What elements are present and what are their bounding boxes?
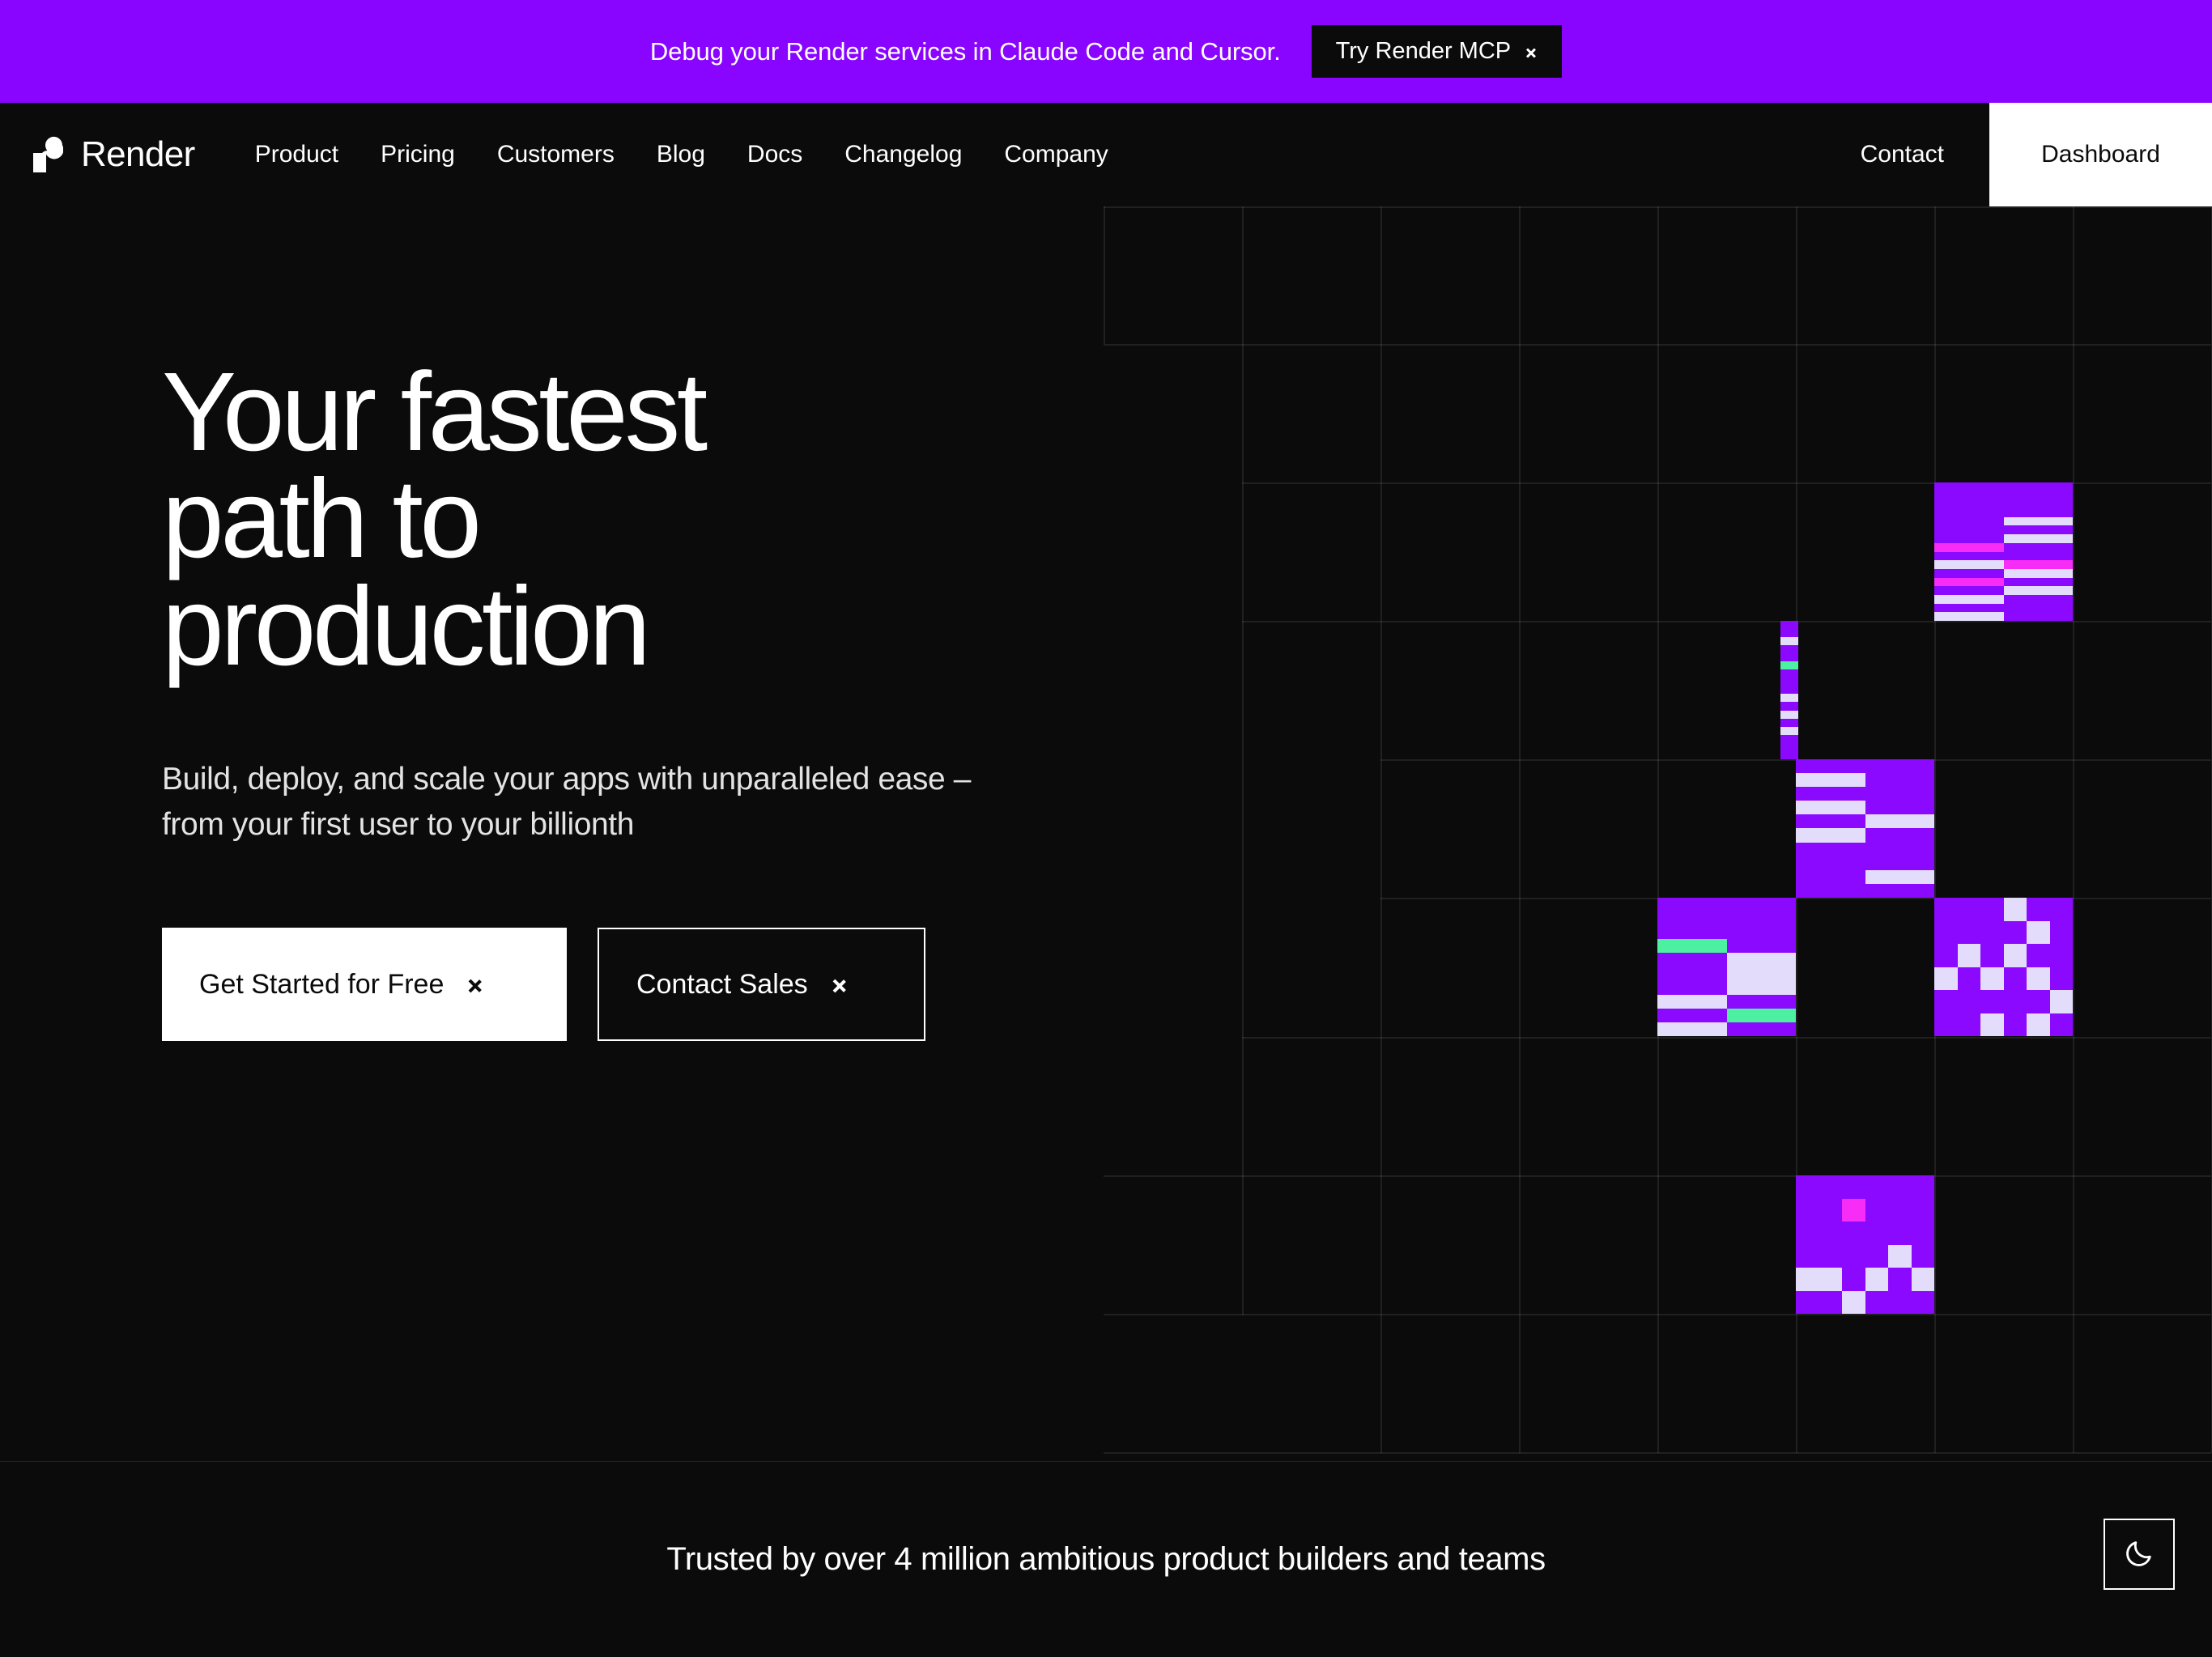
grid-line-vertical (1380, 206, 1382, 1453)
pixel-cell (1780, 621, 1798, 629)
pixel-cell (2004, 921, 2027, 945)
pixel-cell (1657, 967, 1727, 980)
pixel-row (1796, 1291, 1934, 1315)
pixel-cell (1796, 759, 1865, 773)
block-stripes-top-right (1934, 482, 2073, 621)
pixel-cell (1780, 702, 1798, 710)
pixel-cell (1934, 1013, 1958, 1037)
pixel-cell (1780, 751, 1798, 759)
pixel-row (1796, 856, 1934, 870)
block-stripes-green-left (1657, 898, 1796, 1036)
grid-line-horizontal (1104, 1314, 2211, 1315)
pixel-row (1796, 1175, 1934, 1199)
pixel-row (1796, 773, 1934, 787)
pixel-row (1796, 814, 1934, 828)
grid-line-horizontal (1104, 1175, 2211, 1177)
pixel-cell (2004, 491, 2074, 500)
nav-item-docs[interactable]: Docs (726, 103, 823, 206)
pixel-cell (1842, 1291, 1865, 1315)
pixel-row (1657, 925, 1796, 939)
page-title: Your fastest path to production (162, 359, 1093, 680)
pixel-row (1657, 939, 1796, 953)
pixel-cell (1934, 604, 2004, 613)
pixel-row (1796, 1268, 1934, 1291)
block-thin-stripe (1780, 621, 1798, 759)
pixel-row (1934, 552, 2073, 561)
pixel-cell (1865, 1222, 1889, 1245)
block-stripes-middle (1796, 759, 1934, 898)
site-header: Render Product Pricing Customers Blog Do… (0, 103, 2212, 206)
pixel-cell (1727, 898, 1797, 911)
pixel-cell (1796, 884, 1865, 898)
pixel-cell (2004, 560, 2074, 569)
pixel-cell (2004, 543, 2074, 552)
pixel-row (1796, 884, 1934, 898)
pixel-row (1796, 1199, 1934, 1222)
pixel-cell (1796, 1222, 1819, 1245)
pixel-cell (1727, 953, 1797, 967)
pixel-row (1657, 1022, 1796, 1036)
pixel-row (1780, 678, 1798, 686)
pixel-cell (1934, 534, 2004, 543)
pixel-row (1934, 482, 2073, 491)
pixel-row (1934, 944, 2073, 967)
pixel-cell (1934, 482, 2004, 491)
pixel-cell (1780, 669, 1798, 678)
hero-subtitle: Build, deploy, and scale your apps with … (162, 757, 1093, 847)
pixel-row (1934, 595, 2073, 604)
trusted-strip: Trusted by over 4 million ambitious prod… (0, 1461, 2212, 1657)
pixel-cell (1796, 843, 1865, 856)
pixel-row (1934, 578, 2073, 587)
pixel-row (1780, 661, 1798, 669)
pixel-cell (1934, 944, 1958, 967)
pixel-cell (1958, 944, 1981, 967)
pixel-cell (1934, 921, 1958, 945)
pixel-cell (1657, 925, 1727, 939)
pixel-cell (1980, 921, 2004, 945)
pixel-cell (1780, 678, 1798, 686)
pixel-cell (2004, 552, 2074, 561)
pixel-row (1796, 801, 1934, 814)
trusted-text: Trusted by over 4 million ambitious prod… (666, 1541, 1545, 1578)
pixel-cell (2050, 921, 2074, 945)
pixel-cell (1819, 1291, 1843, 1315)
pixel-cell (1819, 1268, 1843, 1291)
pixel-row (1657, 953, 1796, 967)
pixel-cell (1865, 870, 1935, 884)
contact-sales-button[interactable]: Contact Sales (598, 928, 925, 1041)
grid-line-vertical (1519, 206, 1521, 1453)
pixel-cell (1865, 1268, 1889, 1291)
pixel-cell (1934, 517, 2004, 526)
pixel-cell (1780, 743, 1798, 751)
pixel-cell (1796, 801, 1865, 814)
nav-item-blog[interactable]: Blog (636, 103, 726, 206)
pixel-cell (1958, 967, 1981, 991)
chevron-right-icon (834, 972, 846, 996)
grid-line-horizontal (1104, 206, 2211, 208)
brand-logo-link[interactable]: Render (0, 103, 228, 206)
pixel-cell (2004, 569, 2074, 578)
hero-section: Your fastest path to production Build, d… (0, 206, 2212, 1657)
announcement-text: Debug your Render services in Claude Cod… (650, 37, 1281, 66)
announcement-bar: Debug your Render services in Claude Cod… (0, 0, 2212, 103)
pixel-cell (1888, 1222, 1912, 1245)
pixel-cell (1727, 981, 1797, 995)
pixel-cell (1865, 828, 1935, 842)
pixel-cell (1980, 967, 2004, 991)
pixel-row (1934, 525, 2073, 534)
grid-line-vertical (2073, 206, 2074, 1453)
pixel-cell (2004, 898, 2027, 921)
grid-line-horizontal (1242, 621, 2211, 622)
pixel-cell (2050, 990, 2074, 1013)
pixel-cell (2004, 525, 2074, 534)
pixel-cell (1934, 499, 2004, 508)
pixel-row (1934, 534, 2073, 543)
block-checker-right (1934, 898, 2073, 1036)
pixel-cell (1934, 508, 2004, 517)
pixel-row (1780, 694, 1798, 702)
pixel-row (1796, 1222, 1934, 1245)
pixel-row (1657, 995, 1796, 1009)
pixel-cell (1912, 1291, 1935, 1315)
pixel-cell (2050, 967, 2074, 991)
pixel-cell (1780, 694, 1798, 702)
pixel-cell (1727, 967, 1797, 980)
pixel-cell (1912, 1245, 1935, 1268)
pixel-cell (1958, 990, 1981, 1013)
pixel-cell (1727, 925, 1797, 939)
pixel-row (1796, 787, 1934, 801)
pixel-cell (1796, 814, 1865, 828)
chevron-right-icon (1527, 43, 1538, 61)
pixel-cell (1796, 828, 1865, 842)
pixel-cell (2027, 967, 2050, 991)
pixel-cell (2004, 612, 2074, 621)
pixel-cell (1780, 637, 1798, 645)
pixel-cell (1865, 843, 1935, 856)
pixel-cell (2004, 944, 2027, 967)
pixel-cell (1958, 898, 1981, 921)
pixel-cell (1888, 1291, 1912, 1315)
pixel-cell (2004, 1013, 2027, 1037)
pixel-row (1780, 686, 1798, 694)
pixel-cell (2004, 967, 2027, 991)
pixel-cell (2050, 944, 2074, 967)
pixel-cell (1888, 1175, 1912, 1199)
pixel-cell (1796, 1245, 1819, 1268)
grid-line-horizontal (1104, 1452, 2211, 1454)
pixel-cell (1796, 773, 1865, 787)
chevron-right-icon (470, 972, 482, 996)
pixel-cell (1727, 939, 1797, 953)
pixel-cell (1727, 1022, 1797, 1036)
pixel-cell (1819, 1222, 1843, 1245)
pixel-cell (1934, 560, 2004, 569)
hero-copy: Your fastest path to production Build, d… (162, 206, 1093, 1041)
pixel-cell (1780, 711, 1798, 719)
nav-item-company[interactable]: Company (983, 103, 1129, 206)
pixel-row (1934, 499, 2073, 508)
hero-actions: Get Started for Free Contact Sales (162, 928, 1093, 1041)
pixel-cell (1865, 814, 1935, 828)
pixel-row (1934, 569, 2073, 578)
pixel-cell (1657, 939, 1727, 953)
pixel-cell (1980, 990, 2004, 1013)
pixel-cell (1980, 1013, 2004, 1037)
grid-line-vertical (1934, 206, 1936, 1453)
pixel-row (1796, 759, 1934, 773)
pixel-cell (1934, 578, 2004, 587)
pixel-cell (1657, 1009, 1727, 1022)
pixel-cell (1865, 1175, 1889, 1199)
pixel-cell (1934, 525, 2004, 534)
pixel-cell (1727, 911, 1797, 925)
pixel-cell (1934, 612, 2004, 621)
pixel-cell (1657, 953, 1727, 967)
pixel-row (1780, 727, 1798, 735)
pixel-row (1657, 1009, 1796, 1022)
moon-icon (2123, 1537, 2155, 1572)
pixel-cell (2027, 921, 2050, 945)
theme-toggle-button[interactable] (2104, 1519, 2175, 1590)
pixel-cell (1958, 921, 1981, 945)
pixel-cell (1819, 1199, 1843, 1222)
pixel-cell (1865, 773, 1935, 787)
pixel-cell (2004, 499, 2074, 508)
pixel-cell (2027, 898, 2050, 921)
pixel-row (1657, 967, 1796, 980)
pixel-cell (2004, 578, 2074, 587)
pixel-cell (1842, 1175, 1865, 1199)
pixel-cell (2004, 990, 2027, 1013)
pixel-row (1934, 898, 2073, 921)
pixel-cell (2004, 482, 2074, 491)
pixel-cell (1842, 1199, 1865, 1222)
pixel-cell (2004, 586, 2074, 595)
pixel-cell (1934, 586, 2004, 595)
pixel-cell (1865, 787, 1935, 801)
pixel-cell (1796, 1291, 1819, 1315)
pixel-cell (1657, 1022, 1727, 1036)
pixel-cell (1657, 981, 1727, 995)
pixel-row (1934, 604, 2073, 613)
pixel-cell (1888, 1245, 1912, 1268)
pixel-row (1934, 967, 2073, 991)
pixel-cell (1780, 645, 1798, 653)
secondary-cta-label: Contact Sales (636, 969, 808, 1001)
pixel-cell (1912, 1268, 1935, 1291)
pixel-cell (1865, 856, 1935, 870)
pixel-cell (1958, 1013, 1981, 1037)
pixel-row (1796, 870, 1934, 884)
nav-item-product[interactable]: Product (234, 103, 359, 206)
pixel-row (1934, 612, 2073, 621)
pixel-row (1780, 735, 1798, 743)
nav-item-contact[interactable]: Contact (1815, 103, 1989, 206)
nav-item-customers[interactable]: Customers (476, 103, 636, 206)
pixel-cell (1912, 1222, 1935, 1245)
pixel-cell (1657, 995, 1727, 1009)
pixel-cell (2027, 990, 2050, 1013)
pixel-cell (1727, 995, 1797, 1009)
pixel-cell (1657, 911, 1727, 925)
pixel-row (1780, 669, 1798, 678)
grid-line-horizontal (1242, 1037, 2211, 1039)
pixel-cell (1865, 759, 1935, 773)
pixel-cell (2027, 944, 2050, 967)
pixel-row (1796, 843, 1934, 856)
pixel-cell (1796, 1199, 1819, 1222)
pixel-cell (1819, 1175, 1843, 1199)
pixel-cell (1934, 543, 2004, 552)
pixel-row (1780, 751, 1798, 759)
pixel-row (1780, 653, 1798, 661)
nav-item-pricing[interactable]: Pricing (359, 103, 476, 206)
pixel-cell (1727, 1009, 1797, 1022)
pixel-row (1796, 1245, 1934, 1268)
get-started-for-free-button[interactable]: Get Started for Free (162, 928, 567, 1041)
pixel-cell (1865, 884, 1935, 898)
pixel-row (1780, 637, 1798, 645)
pixel-row (1657, 911, 1796, 925)
dashboard-button[interactable]: Dashboard (1989, 103, 2212, 206)
pixel-cell (1796, 1175, 1819, 1199)
pixel-row (1934, 508, 2073, 517)
pixel-row (1934, 990, 2073, 1013)
primary-cta-label: Get Started for Free (199, 969, 444, 1001)
pixel-row (1780, 621, 1798, 629)
pixel-cell (1888, 1268, 1912, 1291)
pixel-row (1934, 543, 2073, 552)
pixel-cell (2027, 1013, 2050, 1037)
pixel-row (1780, 711, 1798, 719)
pixel-cell (1780, 661, 1798, 669)
pixel-cell (1780, 653, 1798, 661)
pixel-cell (2004, 595, 2074, 604)
pixel-row (1934, 491, 2073, 500)
pixel-cell (1912, 1175, 1935, 1199)
pixel-cell (1934, 552, 2004, 561)
pixel-cell (1980, 898, 2004, 921)
pixel-row (1780, 743, 1798, 751)
pixel-cell (1865, 801, 1935, 814)
pixel-row (1934, 586, 2073, 595)
pixel-cell (1780, 629, 1798, 637)
block-pink-dot-bottom (1796, 1175, 1934, 1314)
pixel-cell (1934, 569, 2004, 578)
grid-line-vertical (1657, 206, 1659, 1453)
pixel-cell (1865, 1245, 1889, 1268)
pixel-cell (2050, 898, 2074, 921)
pixel-row (1657, 898, 1796, 911)
pixel-cell (1657, 898, 1727, 911)
pixel-cell (2004, 534, 2074, 543)
header-right-actions: Contact Dashboard (1815, 103, 2212, 206)
pixel-cell (1780, 719, 1798, 727)
pixel-cell (1842, 1222, 1865, 1245)
pixel-row (1934, 517, 2073, 526)
pixel-cell (1842, 1245, 1865, 1268)
announcement-cta-label: Try Render MCP (1336, 38, 1511, 65)
pixel-cell (1796, 787, 1865, 801)
pixel-cell (1934, 491, 2004, 500)
pixel-cell (1934, 898, 1958, 921)
pixel-cell (2004, 604, 2074, 613)
pixel-row (1657, 981, 1796, 995)
grid-line-vertical (1242, 206, 1244, 1315)
pixel-cell (1796, 870, 1865, 884)
pixel-cell (1912, 1199, 1935, 1222)
render-logo-icon (32, 136, 63, 173)
pixel-cell (1888, 1199, 1912, 1222)
pixel-row (1934, 560, 2073, 569)
pixel-row (1780, 645, 1798, 653)
pixel-cell (1865, 1199, 1889, 1222)
pixel-cell (1934, 967, 1958, 991)
pixel-row (1796, 828, 1934, 842)
grid-line-horizontal (1104, 344, 2211, 346)
grid-line-vertical (1104, 206, 1105, 344)
pixel-cell (1934, 990, 1958, 1013)
pixel-row (1934, 1013, 2073, 1037)
nav-item-changelog[interactable]: Changelog (823, 103, 983, 206)
pixel-cell (1780, 735, 1798, 743)
pixel-cell (1980, 944, 2004, 967)
pixel-cell (1842, 1268, 1865, 1291)
brand-name: Render (81, 134, 195, 175)
pixel-cell (2004, 517, 2074, 526)
pixel-row (1780, 719, 1798, 727)
pixel-row (1780, 629, 1798, 637)
pixel-cell (1865, 1291, 1889, 1315)
primary-nav: Product Pricing Customers Blog Docs Chan… (234, 103, 1129, 206)
pixel-cell (2050, 1013, 2074, 1037)
try-render-mcp-button[interactable]: Try Render MCP (1312, 25, 1562, 78)
pixel-cell (1796, 856, 1865, 870)
pixel-cell (1819, 1245, 1843, 1268)
grid-line-horizontal (1380, 898, 2211, 899)
pixel-cell (1780, 686, 1798, 694)
hero-pixel-art-graphic (1104, 206, 2212, 1457)
pixel-row (1934, 921, 2073, 945)
pixel-cell (1796, 1268, 1819, 1291)
pixel-cell (1934, 595, 2004, 604)
pixel-cell (1780, 727, 1798, 735)
pixel-cell (2004, 508, 2074, 517)
pixel-row (1780, 702, 1798, 710)
